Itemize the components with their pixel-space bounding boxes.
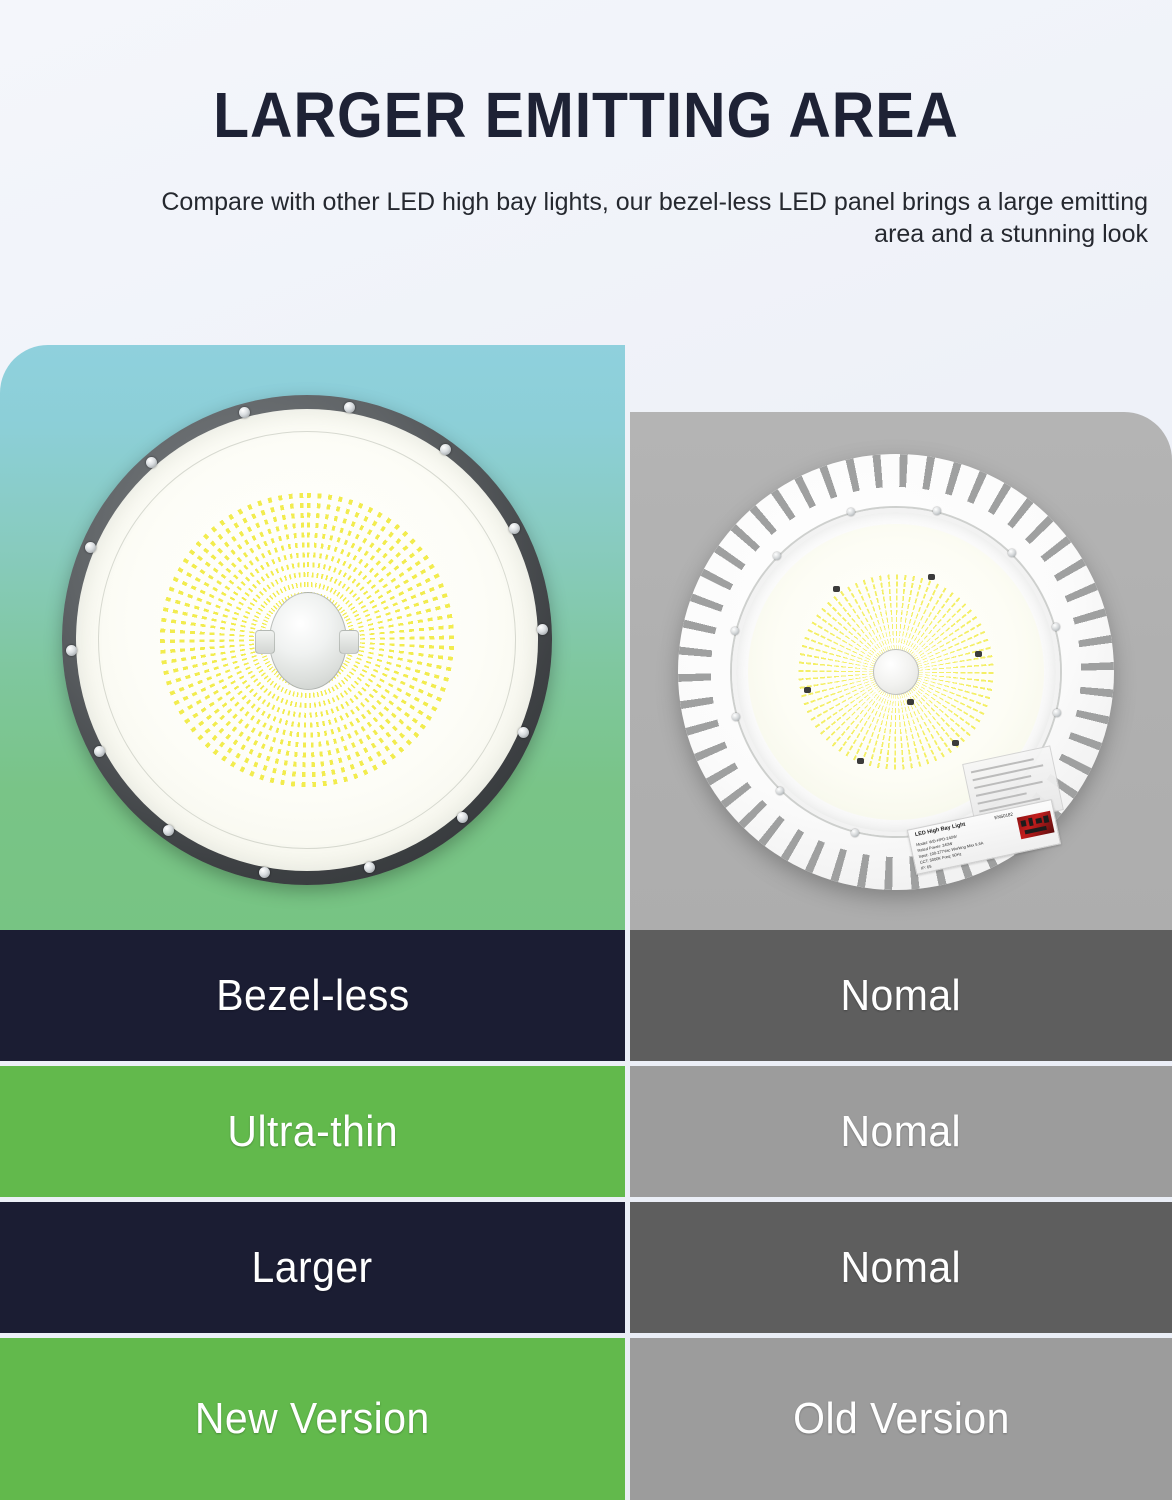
row-left-label: New Version bbox=[195, 1394, 430, 1444]
row-right-label: Old Version bbox=[793, 1394, 1010, 1444]
row-right-label: Nomal bbox=[841, 971, 962, 1021]
row-right-cell: Old Version bbox=[630, 1338, 1172, 1500]
spec-label-line: IP: 65 bbox=[921, 864, 932, 871]
lens-screw bbox=[1052, 623, 1060, 631]
lens-dark-dot bbox=[975, 651, 982, 657]
lens-dark-dot bbox=[907, 699, 914, 705]
row-left-cell: Larger bbox=[0, 1202, 625, 1333]
left-product-panel bbox=[0, 345, 625, 930]
comparison-row: Bezel-less Nomal bbox=[0, 930, 1172, 1061]
row-right-cell: Nomal bbox=[630, 930, 1172, 1061]
rim-screw bbox=[457, 812, 468, 823]
infographic-page: LARGER EMITTING AREA Compare with other … bbox=[0, 0, 1172, 1500]
normal-lamp-image: LED High Bay Light EN50182 Model: WD-HPD… bbox=[678, 454, 1114, 890]
comparison-rows: Bezel-less Nomal Ultra-thin Nomal Larger… bbox=[0, 930, 1172, 1500]
hub-tab-left bbox=[255, 630, 275, 654]
lamp-center-hub-old bbox=[873, 649, 919, 695]
rim-screw bbox=[146, 457, 157, 468]
lens-dark-dot bbox=[952, 740, 959, 746]
lamp-face bbox=[76, 409, 538, 871]
row-left-cell: New Version bbox=[0, 1338, 625, 1500]
bezel-less-lamp-image bbox=[62, 395, 552, 885]
right-product-panel: LED High Bay Light EN50182 Model: WD-HPD… bbox=[630, 412, 1172, 930]
comparison-row: New Version Old Version bbox=[0, 1338, 1172, 1500]
row-right-cell: Nomal bbox=[630, 1066, 1172, 1197]
row-right-label: Nomal bbox=[841, 1243, 962, 1293]
row-left-cell: Ultra-thin bbox=[0, 1066, 625, 1197]
rim-screw bbox=[259, 867, 270, 878]
row-right-label: Nomal bbox=[841, 1107, 962, 1157]
lens-dark-dot bbox=[833, 586, 840, 592]
page-subtitle: Compare with other LED high bay lights, … bbox=[140, 186, 1148, 250]
row-left-label: Larger bbox=[252, 1243, 373, 1293]
row-right-cell: Nomal bbox=[630, 1202, 1172, 1333]
lamp-center-hub bbox=[255, 592, 359, 688]
certification-mark bbox=[1017, 811, 1055, 840]
lens-screw bbox=[732, 713, 740, 721]
row-left-label: Ultra-thin bbox=[227, 1107, 398, 1157]
rim-screw bbox=[94, 746, 105, 757]
page-title: LARGER EMITTING AREA bbox=[47, 80, 1125, 150]
spec-label-code: EN50182 bbox=[994, 812, 1013, 821]
rim-screw bbox=[440, 444, 451, 455]
comparison-row: Larger Nomal bbox=[0, 1202, 1172, 1333]
hub-tab-right bbox=[339, 630, 359, 654]
lens-dark-dot bbox=[857, 758, 864, 764]
rim-screw bbox=[85, 542, 96, 553]
row-left-label: Bezel-less bbox=[216, 971, 409, 1021]
lens-dark-dot bbox=[928, 574, 935, 580]
rim-screw bbox=[344, 402, 355, 413]
lens-screw bbox=[851, 829, 859, 837]
lens-screw bbox=[776, 787, 784, 795]
hub-dome bbox=[269, 592, 347, 690]
comparison-row: Ultra-thin Nomal bbox=[0, 1066, 1172, 1197]
lens-screw bbox=[1053, 709, 1061, 717]
rim-screw bbox=[163, 825, 174, 836]
row-left-cell: Bezel-less bbox=[0, 930, 625, 1061]
header: LARGER EMITTING AREA Compare with other … bbox=[0, 0, 1172, 330]
lens-dark-dot bbox=[804, 687, 811, 693]
rim-screw bbox=[239, 407, 250, 418]
rim-screw bbox=[66, 645, 77, 656]
